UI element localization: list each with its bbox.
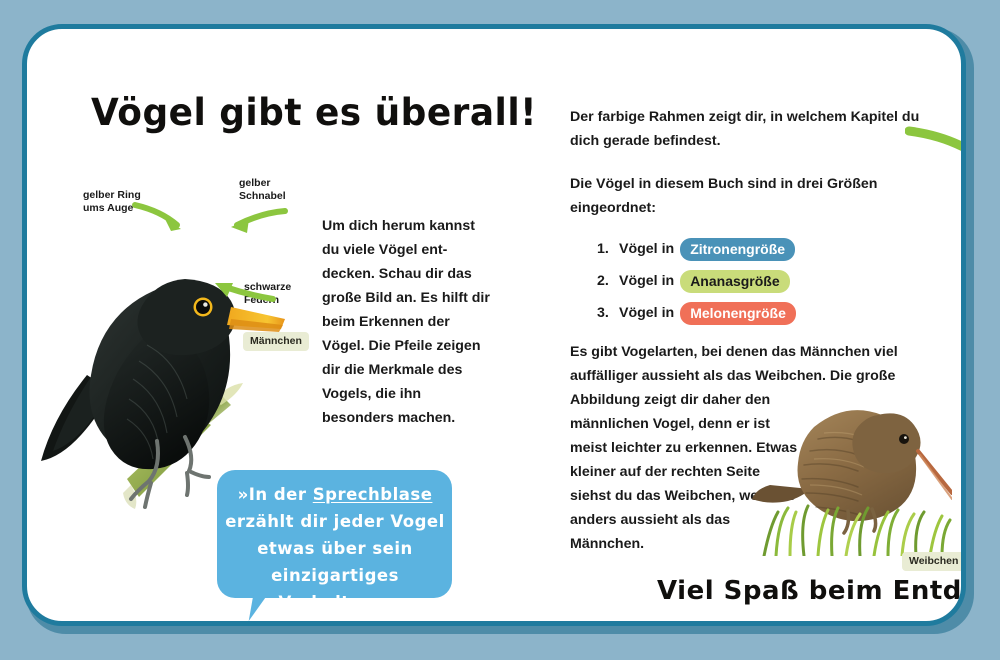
size-badge-melonengroesse: Melonengröße	[680, 302, 796, 325]
closing-title: Viel Spaß beim Entdecken!	[657, 576, 966, 606]
intro-bold-farbige-rahmen: farbige Rahmen	[598, 109, 705, 125]
intro-part1: Der	[570, 109, 598, 125]
size-badge-ananasgroesse: Ananasgröße	[680, 270, 789, 293]
list-prefix: Vögel in	[619, 297, 674, 329]
speech-rest: erzählt dir jeder Vogel etwas über sein …	[225, 512, 445, 612]
left-copy-bold-pfeile: Pfeile	[395, 338, 433, 354]
list-number: 1.	[597, 233, 613, 265]
list-number: 2.	[597, 265, 613, 297]
annotation-label-beak: gelberSchnabel	[239, 177, 309, 202]
size-category-list: 1. Vögel in Zitronengröße 2. Vögel in An…	[597, 233, 927, 329]
list-item: 1. Vögel in Zitronengröße	[597, 233, 927, 265]
list-prefix: Vögel in	[619, 265, 674, 297]
sizes-lead-paragraph: Die Vögel in diesem Buch sind in drei Gr…	[570, 172, 930, 220]
size-badge-zitronengroesse: Zitronengröße	[680, 238, 795, 261]
male-female-text-wide: Es gibt Vogelarten, bei denen das Männch…	[570, 344, 898, 384]
speech-line1-pre: »In der	[238, 485, 313, 504]
page-title: Vögel gibt es überall!	[91, 91, 537, 134]
arrow-icon-to-beak	[219, 205, 289, 239]
frame-intro-paragraph: Der farbige Rahmen zeigt dir, in welchem…	[570, 105, 930, 153]
speech-bubble-text: »In der Sprechblase erzählt dir jeder Vo…	[225, 481, 445, 616]
list-prefix: Vögel in	[619, 233, 674, 265]
page-frame: gelber Ringums Auge gelberSchnabel schwa…	[22, 24, 966, 626]
blackbird-female-illustration	[752, 381, 952, 556]
arrow-icon-to-feathers	[205, 275, 277, 311]
male-tag: Männchen	[243, 332, 309, 351]
list-item: 3. Vögel in Melonengröße	[597, 297, 927, 329]
left-intro-paragraph: Um dich herum kannst du viele Vögel ent­…	[322, 214, 494, 430]
female-tag: Weibchen	[902, 552, 965, 571]
left-copy-bold-voegel: Vögel	[379, 242, 418, 258]
list-item: 2. Vögel in Ananasgröße	[597, 265, 927, 297]
page-root: gelber Ringums Auge gelberSchnabel schwa…	[0, 0, 1000, 660]
speech-underlined-word: Sprechblase	[313, 485, 433, 504]
arrow-icon-to-eye-ring	[131, 199, 191, 235]
arrow-icon-to-frame	[905, 125, 966, 179]
list-number: 3.	[597, 297, 613, 329]
